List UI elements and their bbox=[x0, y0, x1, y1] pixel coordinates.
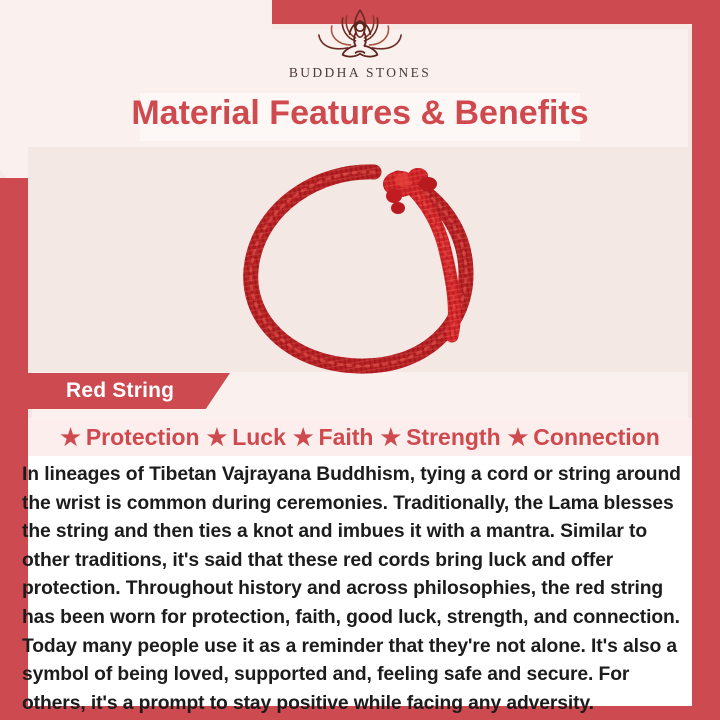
red-braided-string-bracelet-image bbox=[222, 150, 512, 390]
benefit-label: Connection bbox=[533, 424, 660, 451]
brand-logo: BUDDHA STONES bbox=[0, 6, 720, 92]
description-text: In lineages of Tibetan Vajrayana Buddhis… bbox=[22, 461, 688, 718]
lotus-meditation-icon bbox=[308, 6, 412, 62]
infographic-page: BUDDHA STONES Material Features & Benefi… bbox=[0, 0, 720, 720]
benefit-protection: ★ Protection bbox=[60, 424, 199, 451]
benefit-label: Faith bbox=[319, 424, 374, 451]
star-icon: ★ bbox=[60, 426, 81, 449]
benefit-connection: ★ Connection bbox=[508, 424, 660, 451]
benefit-label: Protection bbox=[86, 424, 200, 451]
benefits-row: ★ Protection ★ Luck ★ Faith ★ Strength ★… bbox=[28, 418, 692, 456]
star-icon: ★ bbox=[293, 426, 314, 449]
benefit-label: Strength bbox=[406, 424, 501, 451]
benefit-strength: ★ Strength bbox=[380, 424, 500, 451]
star-icon: ★ bbox=[380, 426, 401, 449]
section-ribbon: Red String bbox=[28, 373, 230, 409]
page-title: Material Features & Benefits bbox=[0, 94, 720, 133]
benefit-faith: ★ Faith bbox=[293, 424, 374, 451]
star-icon: ★ bbox=[207, 426, 228, 449]
star-icon: ★ bbox=[508, 426, 529, 449]
benefit-luck: ★ Luck bbox=[207, 424, 286, 451]
benefit-label: Luck bbox=[232, 424, 286, 451]
section-ribbon-label: Red String bbox=[28, 379, 174, 403]
brand-name: BUDDHA STONES bbox=[289, 65, 431, 81]
